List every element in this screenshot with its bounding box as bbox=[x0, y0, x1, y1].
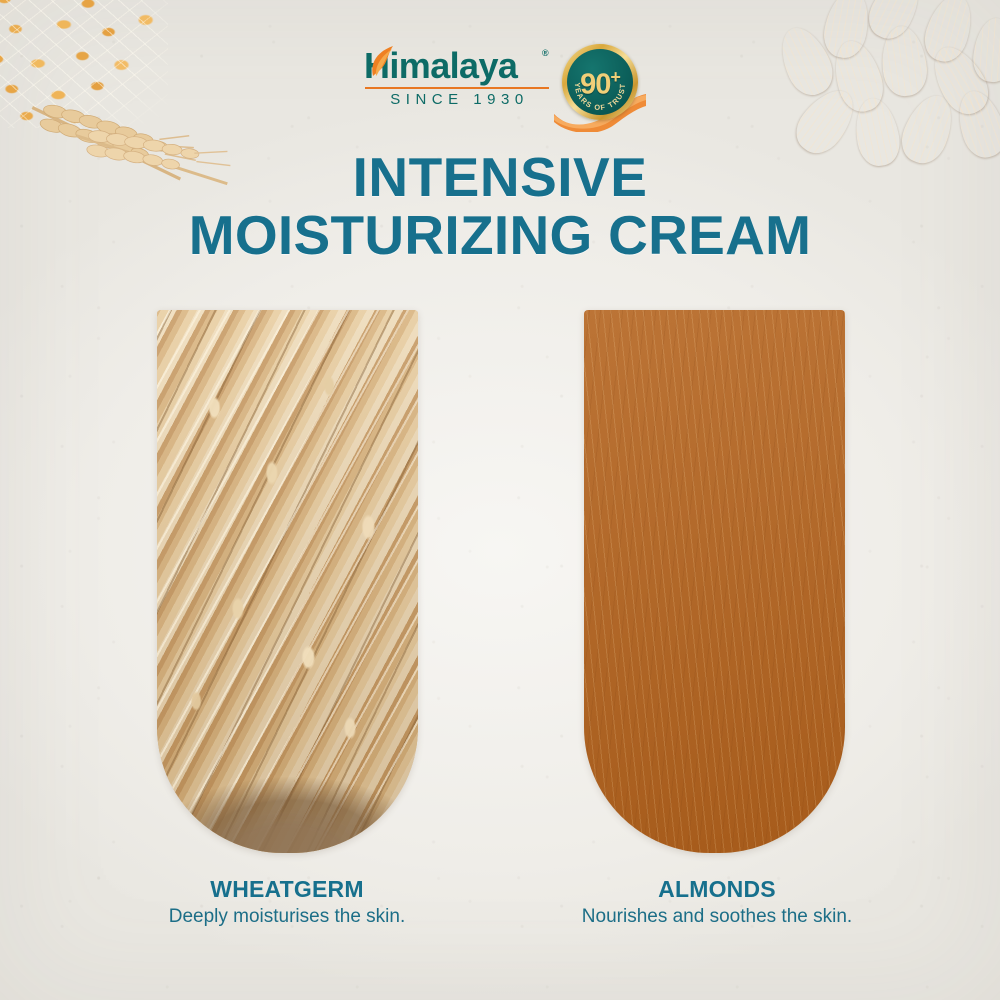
medallion-disc: 90+ YEARS OF TRUST bbox=[562, 44, 638, 120]
headline-line-1: INTENSIVE bbox=[0, 148, 1000, 206]
medallion-inner: 90+ YEARS OF TRUST bbox=[567, 49, 633, 115]
ingredient-caption-wheatgerm: WHEATGERM Deeply moisturises the skin. bbox=[122, 876, 452, 930]
himalaya-wordmark: Himalaya bbox=[364, 46, 550, 86]
leaf-swoosh-icon bbox=[367, 45, 399, 79]
badge-arc-text: YEARS OF TRUST bbox=[567, 49, 633, 115]
wordmark-rest: imalaya bbox=[389, 45, 517, 86]
himalaya-logo[interactable]: Himalaya ® SINCE 1930 bbox=[364, 46, 550, 112]
advertisement-canvas: Himalaya ® SINCE 1930 90+ YEA bbox=[0, 0, 1000, 1000]
ingredient-image-almonds bbox=[584, 310, 845, 853]
brand-header: Himalaya ® SINCE 1930 90+ YEA bbox=[0, 38, 1000, 116]
logo-underline-rule bbox=[365, 87, 549, 89]
headline-line-2: MOISTURIZING CREAM bbox=[0, 206, 1000, 264]
page-title: INTENSIVE MOISTURIZING CREAM bbox=[0, 148, 1000, 264]
wheat-ears-photo bbox=[157, 310, 418, 853]
registered-trademark-symbol: ® bbox=[542, 48, 549, 58]
ingredient-image-wheatgerm bbox=[157, 310, 418, 853]
90-years-trust-badge: 90+ YEARS OF TRUST bbox=[554, 40, 646, 132]
ingredient-caption-almonds: ALMONDS Nourishes and soothes the skin. bbox=[552, 876, 882, 930]
brand-tagline: SINCE 1930 bbox=[364, 91, 550, 108]
ingredient-description: Nourishes and soothes the skin. bbox=[552, 904, 882, 930]
ingredient-title: ALMONDS bbox=[552, 876, 882, 902]
ingredient-description: Deeply moisturises the skin. bbox=[122, 904, 452, 930]
almonds-photo bbox=[584, 310, 845, 853]
ingredient-title: WHEATGERM bbox=[122, 876, 452, 902]
svg-text:YEARS OF TRUST: YEARS OF TRUST bbox=[573, 82, 627, 112]
